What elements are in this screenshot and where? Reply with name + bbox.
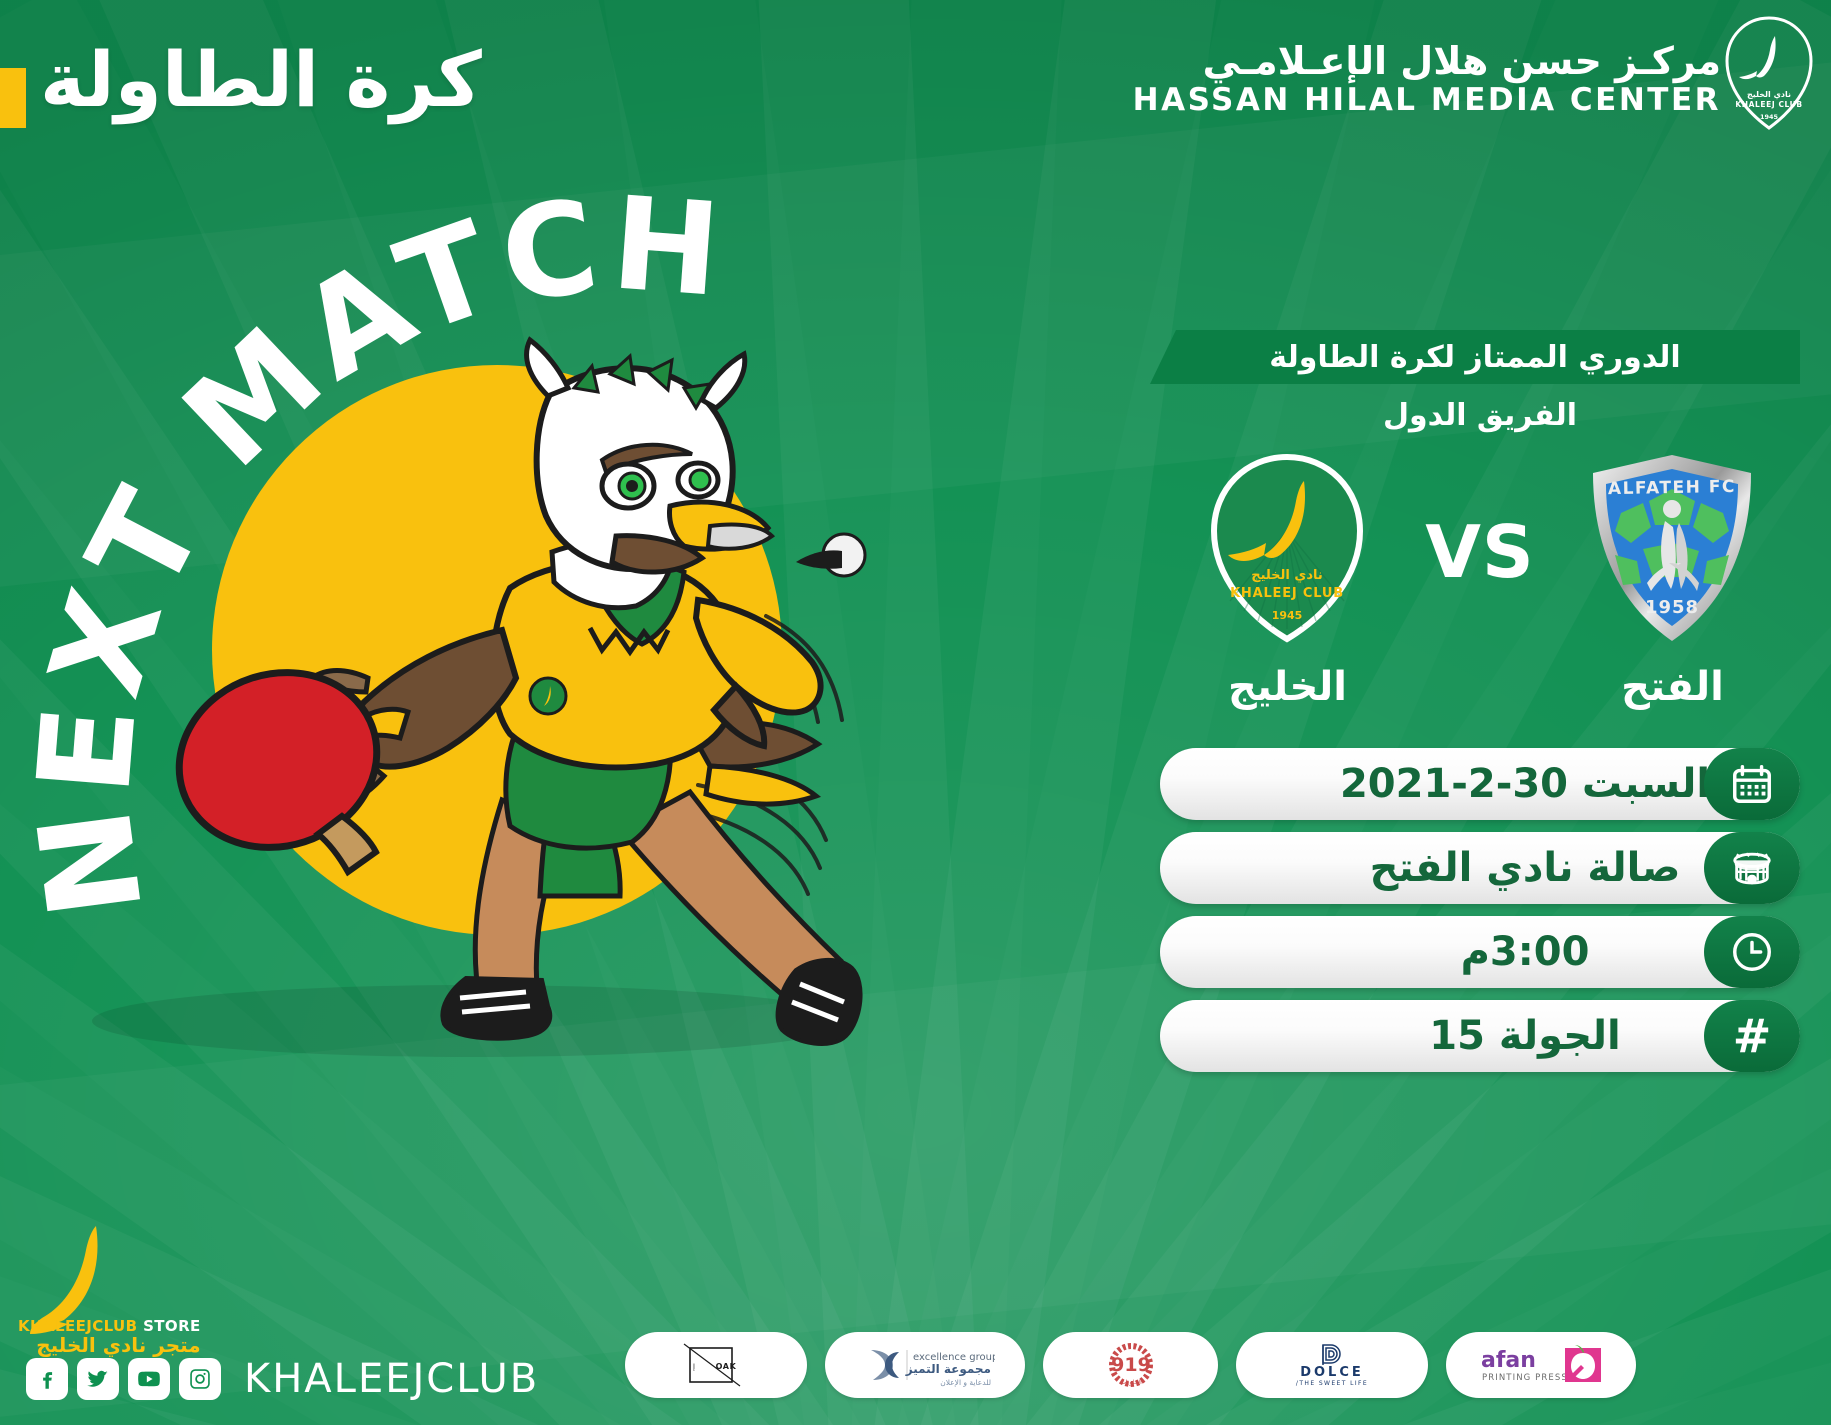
page-title: كرة الطاولة bbox=[40, 42, 482, 118]
svg-text:إ: إ bbox=[693, 1363, 695, 1371]
team-home: نادي الخليج KHALEEJ CLUB 1945 الخليج bbox=[1180, 451, 1395, 710]
match-announcement-poster: كرة الطاولة مركـز حسن هلال الإعـلامـي HA… bbox=[0, 0, 1831, 1425]
calendar-icon bbox=[1704, 748, 1800, 820]
svg-text:ALFATEH FC: ALFATEH FC bbox=[1608, 477, 1736, 499]
store-name-en: KHALEEJCLUB STORE bbox=[18, 1318, 201, 1334]
team-home-name: الخليج bbox=[1228, 664, 1347, 710]
youtube-icon[interactable] bbox=[128, 1358, 170, 1400]
svg-text:919: 919 bbox=[1111, 1354, 1151, 1376]
team-away: ALFATEH FC 1958 الفتح bbox=[1565, 451, 1780, 710]
media-center-branding: مركـز حسن هلال الإعـلامـي HASSAN HILAL M… bbox=[1133, 40, 1721, 117]
match-info-list: السبت 30-2-2021 bbox=[1160, 748, 1800, 1072]
instagram-icon[interactable] bbox=[179, 1358, 221, 1400]
svg-text:KHALEEJ CLUB: KHALEEJ CLUB bbox=[1230, 586, 1344, 601]
match-info-date: السبت 30-2-2021 bbox=[1160, 748, 1800, 820]
svg-text:KHALEEJ CLUB: KHALEEJ CLUB bbox=[1735, 100, 1802, 109]
svg-text:للدعاية و الإعلان: للدعاية و الإعلان bbox=[940, 1378, 991, 1387]
facebook-icon[interactable] bbox=[26, 1358, 68, 1400]
svg-text:PRINTING PRESS: PRINTING PRESS bbox=[1482, 1373, 1568, 1383]
match-info-round: الجولة 15 # bbox=[1160, 1000, 1800, 1072]
svg-text:/THE SWEET LIFE: /THE SWEET LIFE bbox=[1296, 1380, 1368, 1387]
dolce-logo-icon: DOLCE /THE SWEET LIFE bbox=[1236, 1332, 1428, 1398]
svg-text:مجموعة التميز: مجموعة التميز bbox=[905, 1362, 991, 1377]
social-handle: KHALEEJCLUB bbox=[244, 1356, 539, 1402]
league-name: الدوري الممتاز لكرة الطاولة bbox=[1269, 340, 1680, 375]
league-banner: الدوري الممتاز لكرة الطاولة bbox=[1150, 330, 1800, 384]
match-info-venue: صالة نادي الفتح bbox=[1160, 832, 1800, 904]
khaleej-club-crest-icon: نادي الخليج KHALEEJ CLUB 1945 bbox=[1719, 14, 1819, 132]
match-details-column: الدوري الممتاز لكرة الطاولة الفريق الدول… bbox=[1160, 330, 1800, 1072]
svg-text:OAK: OAK bbox=[716, 1362, 737, 1371]
team-level-label: الفريق الدول bbox=[1160, 398, 1800, 433]
media-center-name-ar: مركـز حسن هلال الإعـلامـي bbox=[1133, 40, 1721, 83]
svg-text:نادي الخليج: نادي الخليج bbox=[1747, 90, 1791, 99]
afan-printing-icon: afan PRINTING PRESS bbox=[1446, 1332, 1636, 1398]
eagle-table-tennis-mascot bbox=[150, 330, 950, 1060]
store-name-ar: متجر نادي الخليج bbox=[18, 1335, 201, 1357]
alfateh-fc-crest-icon: ALFATEH FC 1958 bbox=[1585, 451, 1760, 646]
twitter-icon[interactable] bbox=[77, 1358, 119, 1400]
svg-text:نادي الخليج: نادي الخليج bbox=[1251, 568, 1323, 583]
stadium-icon bbox=[1704, 832, 1800, 904]
header-accent-bar bbox=[0, 68, 26, 128]
match-info-time: 3:00م bbox=[1160, 916, 1800, 988]
svg-text:DOLCE: DOLCE bbox=[1300, 1365, 1364, 1380]
social-links[interactable]: KHALEEJCLUB bbox=[26, 1356, 539, 1402]
excellence-group-icon: excellence group مجموعة التميز للدعاية و… bbox=[825, 1332, 1025, 1398]
vs-label: VS bbox=[1425, 510, 1535, 652]
store-branding: KHALEEJCLUB STORE متجر نادي الخليج bbox=[18, 1318, 201, 1357]
clock-icon bbox=[1704, 916, 1800, 988]
oak-logo-icon: OAK إ bbox=[625, 1332, 807, 1398]
sponsor-strip: OAK إ excellence group مجموعة التميز للد… bbox=[625, 1332, 1636, 1398]
khaleej-club-crest-icon: نادي الخليج KHALEEJ CLUB 1945 bbox=[1200, 451, 1375, 646]
svg-text:الحلويات: الحلويات bbox=[1120, 1379, 1142, 1386]
svg-text:1945: 1945 bbox=[1272, 609, 1303, 622]
svg-text:1958: 1958 bbox=[1645, 597, 1699, 618]
svg-text:1945: 1945 bbox=[1760, 113, 1779, 121]
svg-text:afan: afan bbox=[1481, 1348, 1536, 1373]
hash-icon: # bbox=[1704, 1000, 1800, 1072]
team-away-name: الفتح bbox=[1621, 664, 1724, 710]
nineteen-icon: 919 الحلويات bbox=[1043, 1332, 1218, 1398]
media-center-name-en: HASSAN HILAL MEDIA CENTER bbox=[1133, 83, 1721, 118]
matchup-row: نادي الخليج KHALEEJ CLUB 1945 الخليج VS bbox=[1160, 451, 1800, 710]
